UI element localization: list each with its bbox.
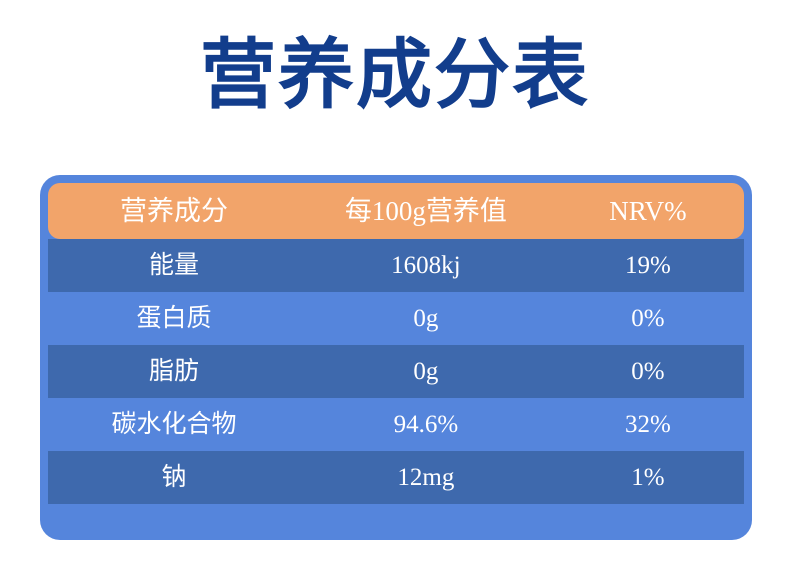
table-header-row: 营养成分 每100g营养值 NRV% [48,183,744,239]
cell-nutrient-value: 0g [300,292,552,345]
cell-nutrient-value: 0g [300,345,552,398]
cell-nutrient-nrv: 0% [552,292,744,345]
cell-nutrient-name: 钠 [48,451,300,504]
table-header: 营养成分 每100g营养值 NRV% [48,183,744,239]
cell-nutrient-nrv: 19% [552,239,744,292]
table-row: 能量 1608kj 19% [48,239,744,292]
cell-nutrient-value: 12mg [300,451,552,504]
cell-nutrient-value: 94.6% [300,398,552,451]
cell-nutrient-value: 1608kj [300,239,552,292]
cell-nutrient-nrv: 1% [552,451,744,504]
table-row: 钠 12mg 1% [48,451,744,504]
cell-nutrient-name: 蛋白质 [48,292,300,345]
cell-nutrient-name: 碳水化合物 [48,398,300,451]
cell-nutrient-name: 脂肪 [48,345,300,398]
column-header-nutrient: 营养成分 [48,183,300,239]
column-header-per-100g: 每100g营养值 [300,183,552,239]
nutrition-facts-table: 营养成分 每100g营养值 NRV% 能量 1608kj 19% 蛋白质 0g … [48,183,744,504]
cell-nutrient-name: 能量 [48,239,300,292]
column-header-nrv: NRV% [552,183,744,239]
table-row: 脂肪 0g 0% [48,345,744,398]
cell-nutrient-nrv: 32% [552,398,744,451]
table-row: 碳水化合物 94.6% 32% [48,398,744,451]
nutrition-table-card: 营养成分 每100g营养值 NRV% 能量 1608kj 19% 蛋白质 0g … [40,175,752,540]
table-row: 蛋白质 0g 0% [48,292,744,345]
page-title: 营养成分表 [0,28,790,124]
cell-nutrient-nrv: 0% [552,345,744,398]
table-body: 能量 1608kj 19% 蛋白质 0g 0% 脂肪 0g 0% 碳水化合物 9… [48,239,744,504]
